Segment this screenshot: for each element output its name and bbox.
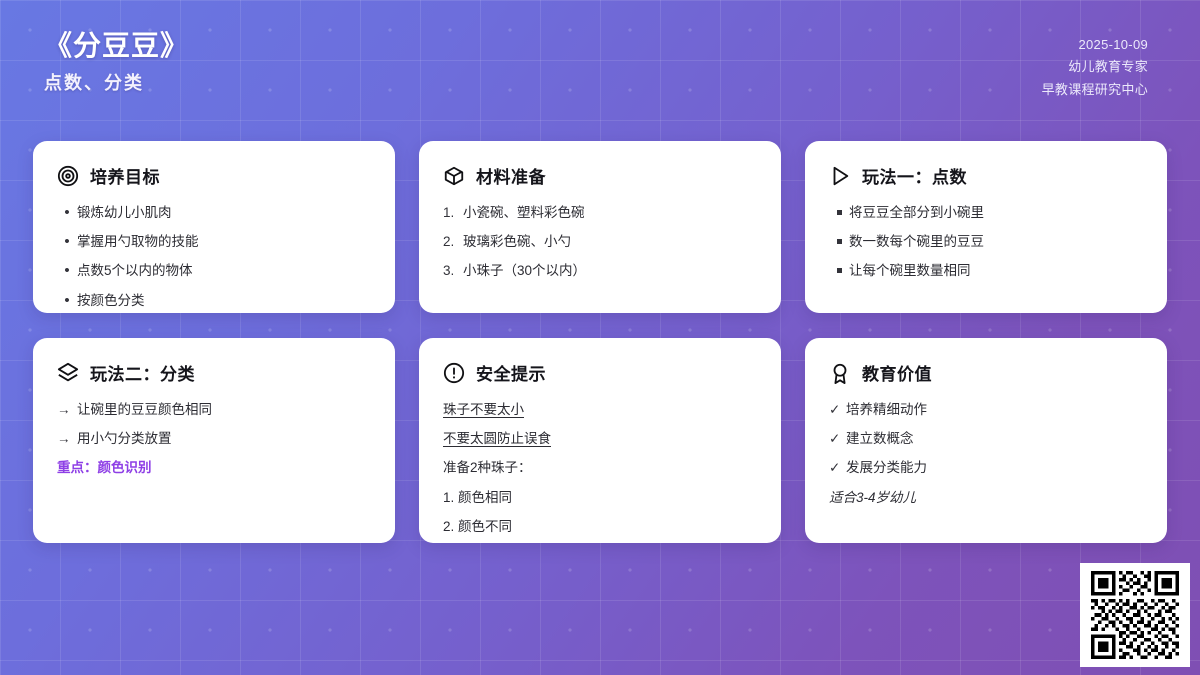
meta-author: 幼儿教育专家 [1042,56,1148,78]
square-bullet-marker [829,233,849,251]
card-body: 将豆豆全部分到小碗里数一数每个碗里的豆豆让每个碗里数量相同 [829,204,1143,281]
card-line-text: 2. 颜色不同 [443,518,512,536]
meta-date: 2025-10-09 [1042,34,1148,56]
check-marker: ✓ [829,459,846,477]
card-line-text: 1. 颜色相同 [443,489,512,507]
number-marker: 2. [443,233,463,251]
check-marker: ✓ [829,401,846,419]
card-title: 安全提示 [476,360,546,385]
meta-organization: 早教课程研究中心 [1042,79,1148,101]
card-line-text: 小瓷碗、塑料彩色碗 [463,204,585,222]
card-line: 适合3-4岁幼儿 [829,489,1143,507]
card-line-text: 用小勺分类放置 [77,430,172,448]
box-icon [443,165,465,187]
card-header: 玩法一：点数 [829,163,1143,188]
card-line: →让碗里的豆豆颜色相同 [57,401,371,419]
card-grid: 培养目标•锻炼幼儿小肌肉•掌握用勺取物的技能•点数5个以内的物体•按颜色分类材料… [33,141,1167,543]
info-card: 安全提示珠子不要太小不要太圆防止误食准备2种珠子：1. 颜色相同2. 颜色不同 [419,338,781,543]
card-line: ✓发展分类能力 [829,459,1143,477]
card-line: 重点：颜色识别 [57,459,371,477]
card-line: •点数5个以内的物体 [57,262,371,280]
card-body: 珠子不要太小不要太圆防止误食准备2种珠子：1. 颜色相同2. 颜色不同 [443,401,757,536]
header-meta-block: 2025-10-09 幼儿教育专家 早教课程研究中心 [1042,34,1148,101]
card-line: 不要太圆防止误食 [443,430,757,448]
square-bullet-marker [829,204,849,222]
info-card: 培养目标•锻炼幼儿小肌肉•掌握用勺取物的技能•点数5个以内的物体•按颜色分类 [33,141,395,313]
info-card: 材料准备1.小瓷碗、塑料彩色碗2.玻璃彩色碗、小勺3.小珠子（30个以内） [419,141,781,313]
card-line-text: 掌握用勺取物的技能 [77,233,199,251]
card-line-text: 数一数每个碗里的豆豆 [849,233,984,251]
award-icon [829,362,851,384]
check-marker: ✓ [829,430,846,448]
number-marker: 1. [443,204,463,222]
play-icon [829,165,851,187]
header-title-block: 《分豆豆》 点数、分类 [44,28,189,95]
card-line: 1.小瓷碗、塑料彩色碗 [443,204,757,222]
card-line: 2. 颜色不同 [443,518,757,536]
card-line: ✓培养精细动作 [829,401,1143,419]
slide-header: 《分豆豆》 点数、分类 2025-10-09 幼儿教育专家 早教课程研究中心 [0,0,1200,122]
card-line: •掌握用勺取物的技能 [57,233,371,251]
bullet-marker: • [57,262,77,280]
card-title: 教育价值 [862,360,932,385]
card-line-text: 不要太圆防止误食 [443,430,551,448]
info-card: 教育价值✓培养精细动作✓建立数概念✓发展分类能力适合3-4岁幼儿 [805,338,1167,543]
card-line-text: 玻璃彩色碗、小勺 [463,233,571,251]
alert-icon [443,362,465,384]
card-line-text: 锻炼幼儿小肌肉 [77,204,172,222]
bullet-marker: • [57,233,77,251]
page-subtitle: 点数、分类 [44,69,189,95]
card-body: ✓培养精细动作✓建立数概念✓发展分类能力适合3-4岁幼儿 [829,401,1143,507]
qr-code-container[interactable] [1080,563,1190,667]
number-marker: 3. [443,262,463,280]
card-header: 安全提示 [443,360,757,385]
card-line: ✓建立数概念 [829,430,1143,448]
card-line-text: 将豆豆全部分到小碗里 [849,204,984,222]
card-header: 材料准备 [443,163,757,188]
bullet-marker: • [57,292,77,310]
card-header: 玩法二：分类 [57,360,371,385]
card-title: 培养目标 [90,163,160,188]
layers-icon [57,362,79,384]
card-line-text: 培养精细动作 [846,401,927,419]
card-title: 材料准备 [476,163,546,188]
card-body: 1.小瓷碗、塑料彩色碗2.玻璃彩色碗、小勺3.小珠子（30个以内） [443,204,757,281]
card-line: •锻炼幼儿小肌肉 [57,204,371,222]
card-line-text: 让每个碗里数量相同 [849,262,971,280]
card-line-text: 适合3-4岁幼儿 [829,489,916,507]
card-line: 将豆豆全部分到小碗里 [829,204,1143,222]
card-line: 1. 颜色相同 [443,489,757,507]
card-body: •锻炼幼儿小肌肉•掌握用勺取物的技能•点数5个以内的物体•按颜色分类 [57,204,371,310]
target-icon [57,165,79,187]
card-header: 培养目标 [57,163,371,188]
square-bullet-marker [829,262,849,280]
arrow-marker: → [57,430,77,448]
info-card: 玩法一：点数将豆豆全部分到小碗里数一数每个碗里的豆豆让每个碗里数量相同 [805,141,1167,313]
card-line-text: 重点：颜色识别 [57,459,152,477]
card-line-text: 小珠子（30个以内） [463,262,586,280]
card-line-text: 发展分类能力 [846,459,927,477]
card-title: 玩法一：点数 [862,163,967,188]
card-line: •按颜色分类 [57,292,371,310]
card-line-text: 点数5个以内的物体 [77,262,193,280]
card-line: 准备2种珠子： [443,459,757,477]
page-title: 《分豆豆》 [44,28,189,63]
card-line-text: 珠子不要太小 [443,401,524,419]
arrow-marker: → [57,401,77,419]
card-line: 让每个碗里数量相同 [829,262,1143,280]
card-line-text: 建立数概念 [846,430,914,448]
card-line-text: 准备2种珠子： [443,459,532,477]
card-line-text: 让碗里的豆豆颜色相同 [77,401,212,419]
card-line-text: 按颜色分类 [77,292,145,310]
card-line: →用小勺分类放置 [57,430,371,448]
card-line: 数一数每个碗里的豆豆 [829,233,1143,251]
qr-code-icon [1091,571,1179,659]
bullet-marker: • [57,204,77,222]
card-header: 教育价值 [829,360,1143,385]
card-line: 3.小珠子（30个以内） [443,262,757,280]
card-line: 2.玻璃彩色碗、小勺 [443,233,757,251]
card-line: 珠子不要太小 [443,401,757,419]
info-card: 玩法二：分类→让碗里的豆豆颜色相同→用小勺分类放置重点：颜色识别 [33,338,395,543]
card-title: 玩法二：分类 [90,360,195,385]
card-body: →让碗里的豆豆颜色相同→用小勺分类放置重点：颜色识别 [57,401,371,478]
